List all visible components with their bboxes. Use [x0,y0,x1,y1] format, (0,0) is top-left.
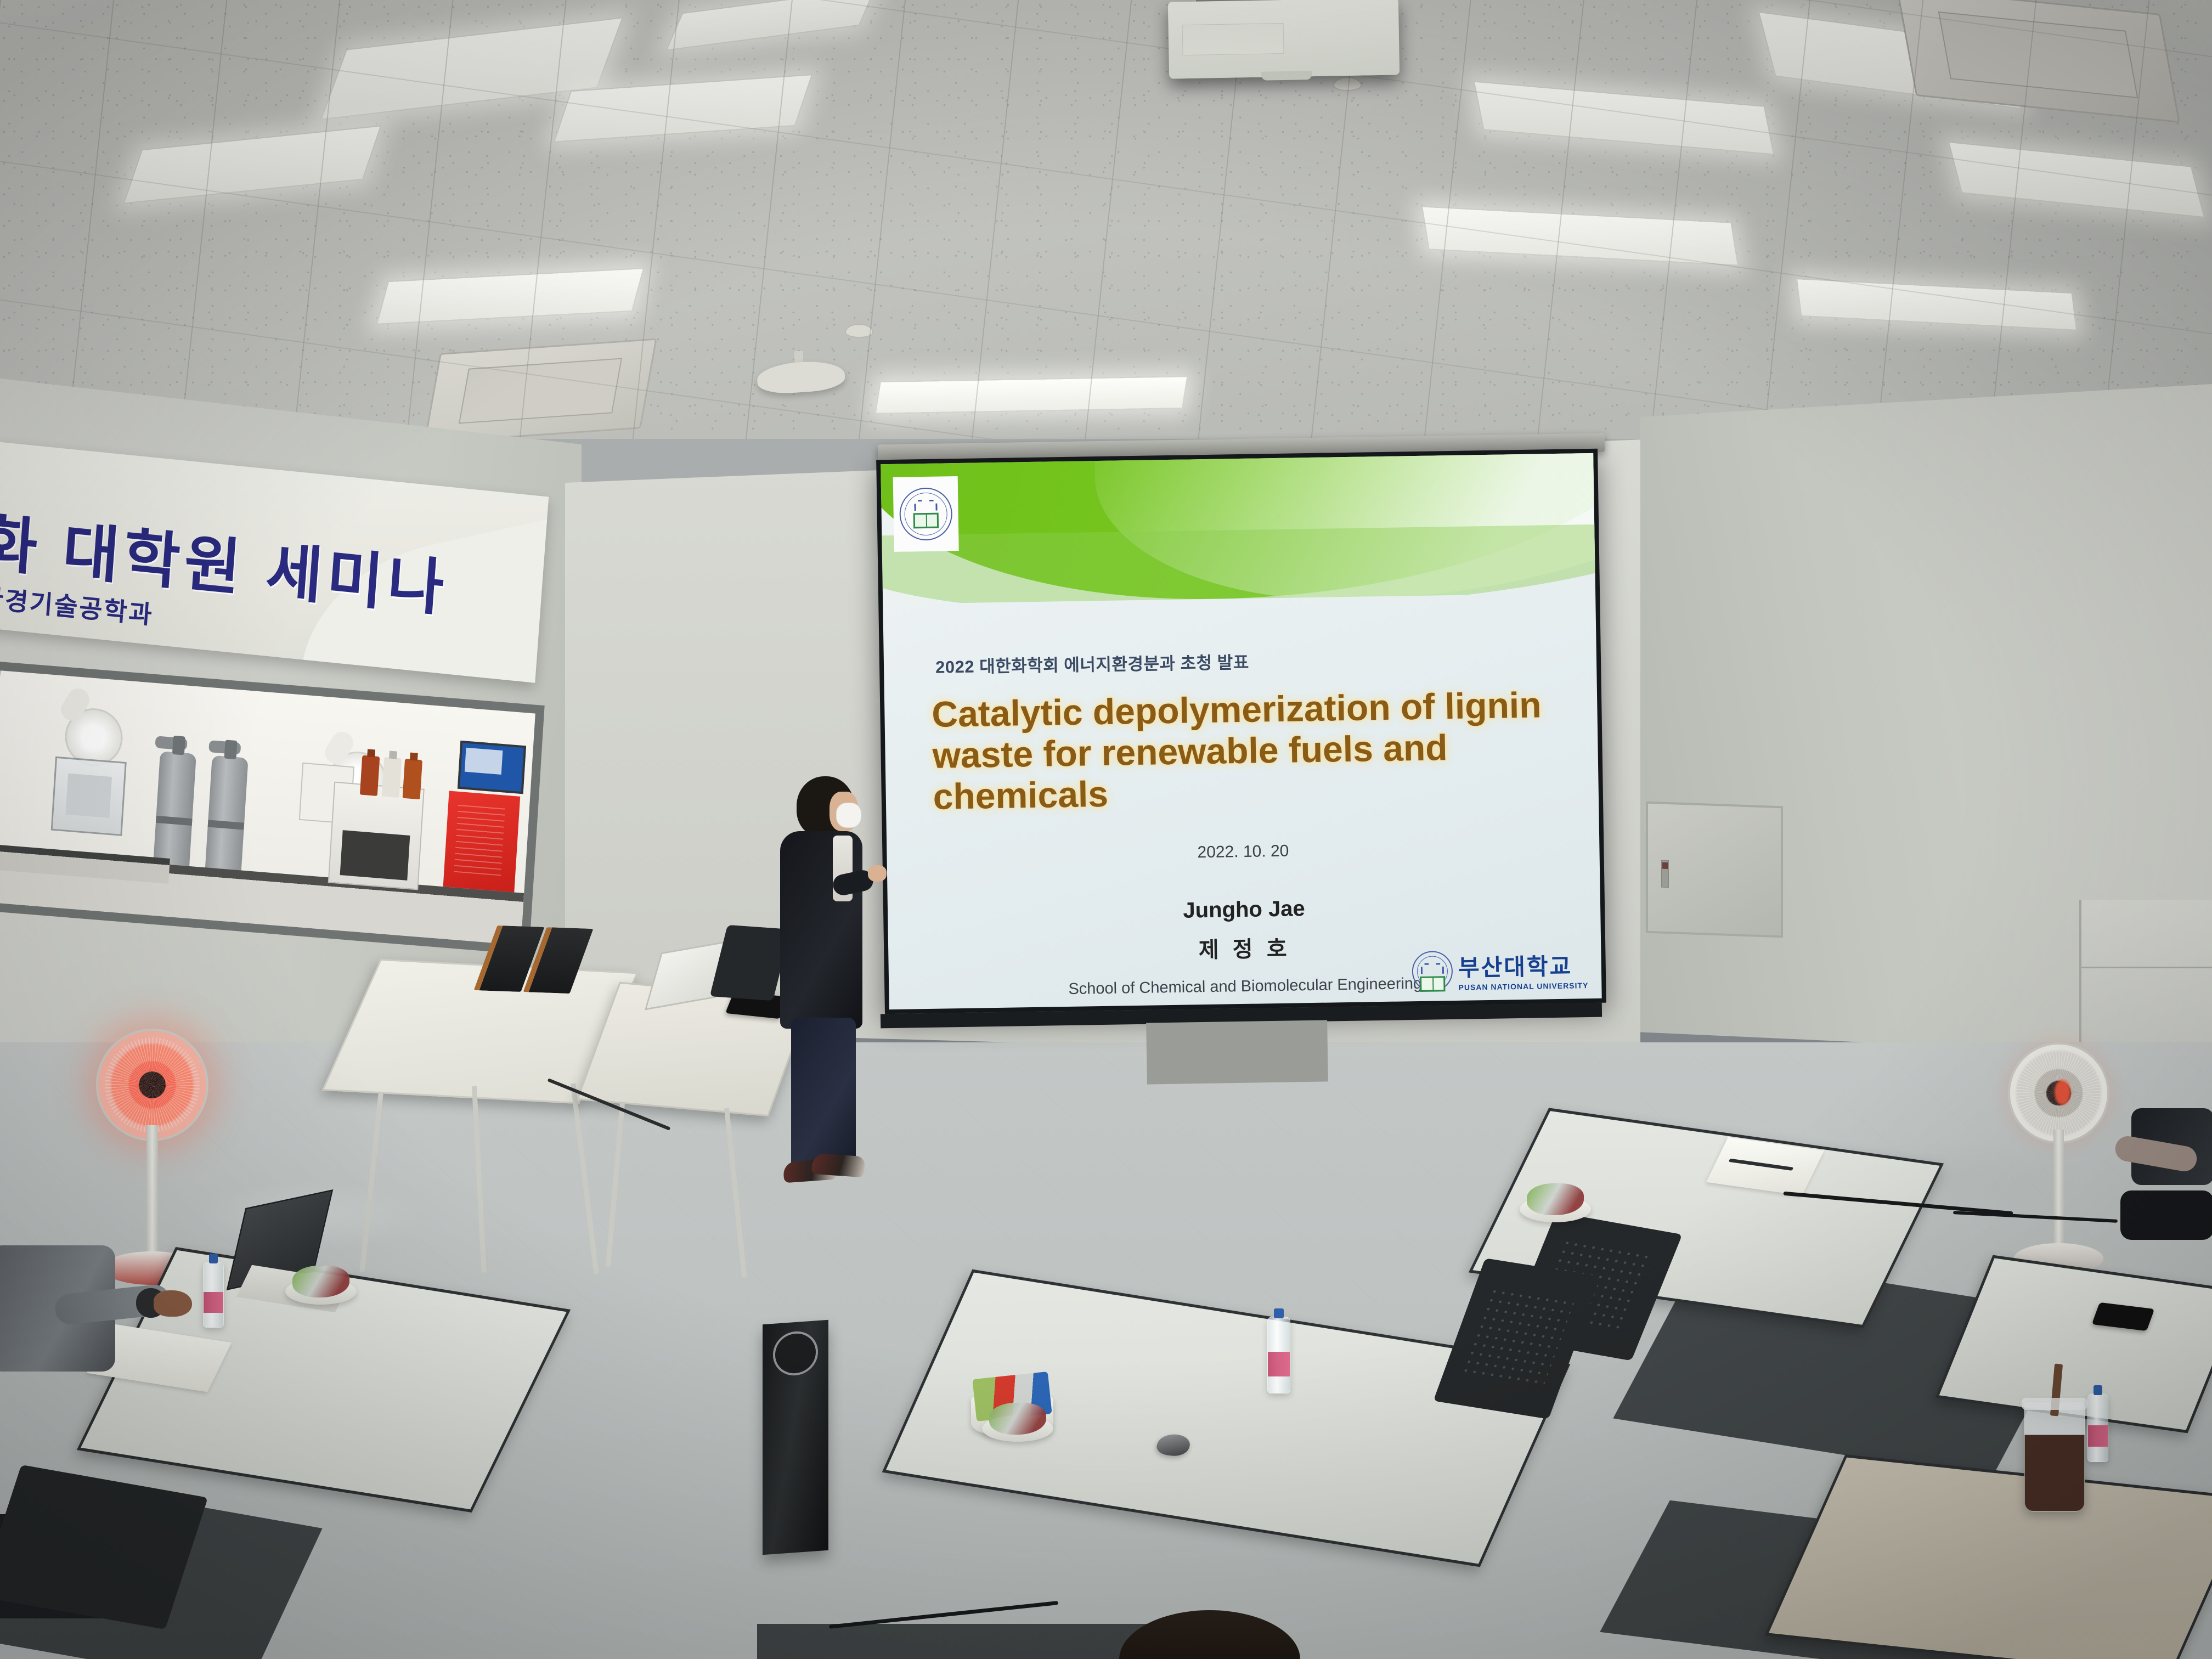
crown-icon [1421,963,1444,974]
snack-plate[interactable] [1520,1196,1591,1222]
ceiling [0,0,2212,439]
heater-stem [2053,1130,2064,1251]
wall-access-panel[interactable] [1646,802,1783,938]
laboratory-viewing-window [0,661,545,955]
infrared-heater-right[interactable] [2008,1042,2109,1144]
presenter-trousers [791,1018,856,1171]
pnu-logo-lockup: 부산대학교 PUSAN NATIONAL UNIVERSITY [1412,947,1588,992]
presenter [768,776,870,1193]
red-lab-cabinet [443,791,521,892]
pnu-seal-badge [893,476,959,552]
gas-cylinder [153,751,196,872]
ceiling-light-fixture [1758,12,2022,110]
attendee-right [2109,1108,2212,1273]
attendee-left [0,1223,170,1454]
ceiling-light-fixture [874,376,1188,414]
ceiling-fan-stem [794,351,803,372]
ceiling-fan [756,359,845,395]
slide-kicker-text: 2022 대한화학회 에너지환경분과 초청 발표 [935,648,1249,678]
projected-slide: 2022 대한화학회 에너지환경분과 초청 발표 Catalytic depol… [881,453,1601,1009]
lab-monitor [458,741,526,794]
attendee-leg [2120,1190,2212,1240]
gas-cylinder [205,755,248,876]
ceiling-light-fixture [1474,81,1775,155]
ceiling-light-fixture [1421,206,1739,266]
ceiling-light-fixture [376,268,645,325]
ceiling-light-fixture [1796,278,2078,331]
ceiling-light-fixture [665,0,876,51]
ac-vent-grille [1938,12,2138,98]
heater-dish-icon [96,1029,208,1141]
projection-screen: 2022 대한화학회 에너지환경분과 초청 발표 Catalytic depol… [876,449,1606,1014]
ceiling-light-fixture [1948,142,2205,218]
heater-dish-icon [2008,1042,2109,1144]
face-mask-icon [836,803,861,828]
slide-date: 2022. 10. 20 [887,837,1599,867]
reagent-bottle [403,759,422,799]
water-bottle[interactable] [203,1262,224,1328]
ceiling-tile-texture [0,0,2212,439]
floor-speaker [763,1320,828,1555]
crown-icon [914,500,937,511]
air-conditioner-cassette [424,338,657,439]
slide-thin-wave [881,523,1595,604]
ceiling-light-fixture [554,74,813,143]
presenter-hand [868,865,887,882]
smoke-detector-icon [1333,77,1362,91]
slide-header-band [881,453,1595,604]
book-icon [1420,976,1445,992]
snack-plate[interactable] [285,1278,357,1305]
reagent-bottle [360,755,380,796]
ac-vent-grille [459,358,623,424]
water-bottle[interactable] [1267,1317,1290,1393]
book-icon [913,513,939,529]
screen-support [1146,1020,1328,1084]
analytical-balance [51,757,127,836]
water-bottle[interactable] [2087,1393,2108,1462]
ceiling-light-fixture [320,17,623,120]
logo-text-kr: 부산대학교 [1458,947,1588,983]
projector-lens-icon [1261,71,1312,81]
presenter-name-en: Jungho Jae [888,892,1601,928]
university-seal-icon [1412,951,1453,992]
seminar-room-photo: 화 대학원 세미나 환경기술공학과 [0,0,2212,1659]
ceiling-light-fixture [123,125,381,204]
university-seal-icon [899,487,952,540]
projector-label [1182,23,1284,55]
smoke-detector-icon [845,324,873,338]
presenter-shoe [811,1153,865,1178]
iced-coffee-cup[interactable] [2024,1402,2085,1511]
panel-latch-icon[interactable] [1661,860,1669,888]
ceiling-projector [1168,0,1400,79]
attendee-hand [154,1290,192,1317]
cup-lid [2022,1398,2088,1410]
snack-plate[interactable] [982,1415,1053,1442]
reagent-bottle [382,757,402,798]
air-conditioner-cassette [1896,0,2180,123]
infrared-heater-left[interactable] [96,1029,208,1141]
slide-title: Catalytic depolymerization of lignin was… [932,684,1559,818]
